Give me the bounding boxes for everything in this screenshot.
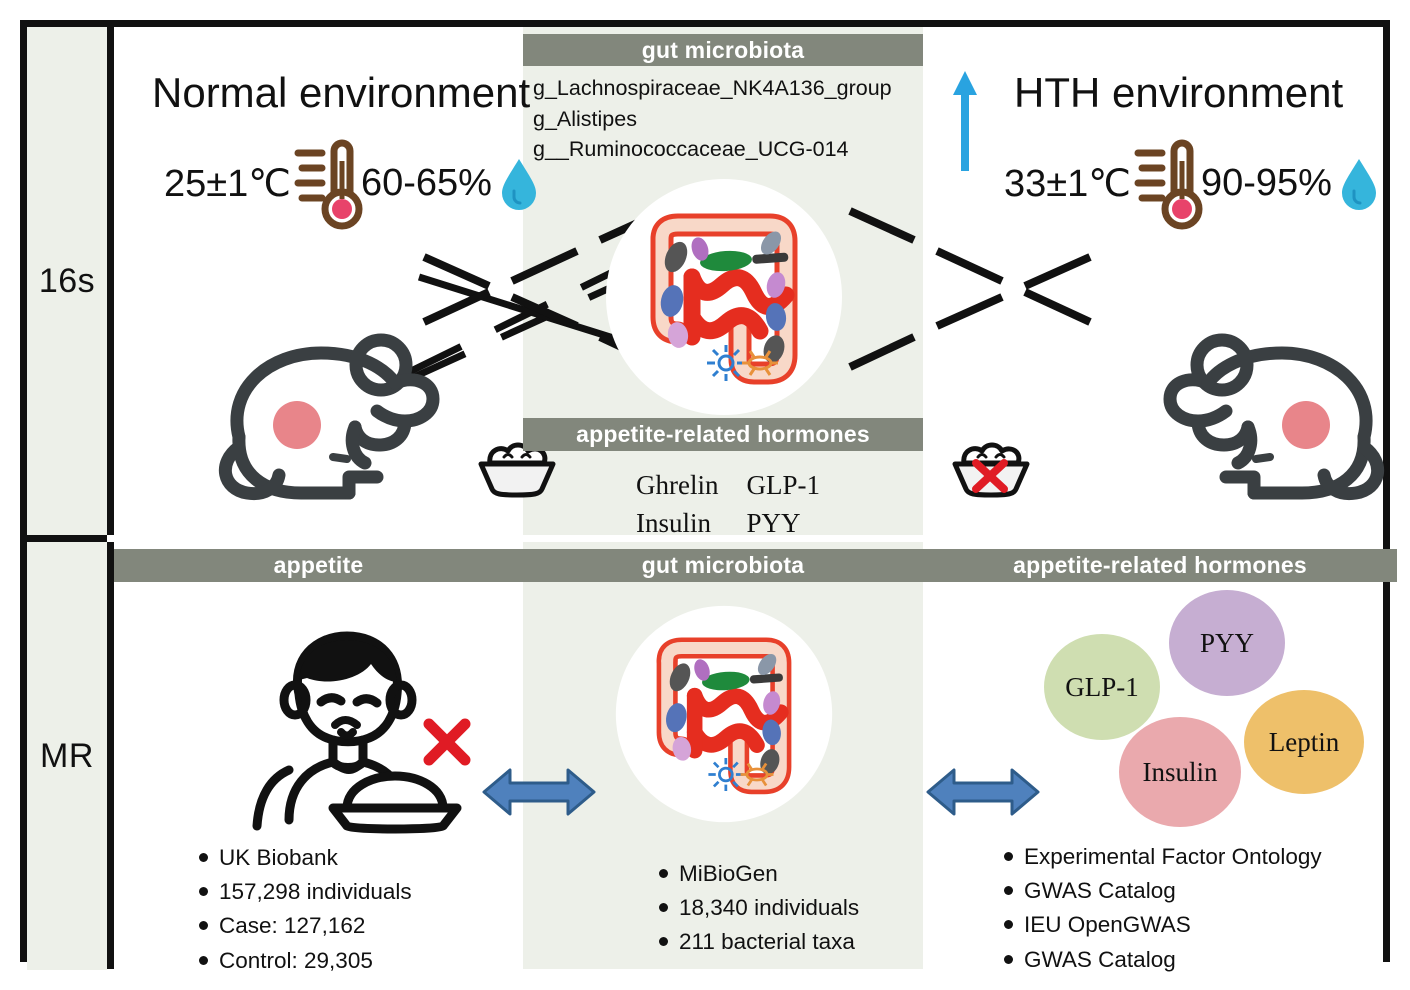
normal-humidity-value: 60-65% — [361, 162, 492, 205]
row-label-mr: MR — [27, 542, 107, 970]
hormone-bubble-pyy: PYY — [1169, 590, 1285, 696]
bullet-dot — [659, 869, 668, 878]
appetite-header-text: appetite — [274, 552, 364, 579]
bullet-dot — [659, 937, 668, 946]
hormone-item: Insulin — [636, 505, 744, 541]
hormones-list: Ghrelin GLP-1 Insulin PYY — [634, 465, 848, 544]
water-droplet-icon — [1338, 155, 1380, 211]
bullet-dot — [199, 887, 208, 896]
food-bowl-crossed-icon — [950, 437, 1032, 499]
mr-hormones-header-text: appetite-related hormones — [1013, 552, 1307, 579]
appetite-header: appetite — [114, 549, 523, 582]
list-item: GWAS Catalog — [1004, 943, 1322, 977]
double-headed-arrow-icon — [926, 764, 1040, 820]
red-cross-icon — [419, 714, 475, 770]
hormone-bubble-label: PYY — [1200, 628, 1254, 659]
figure-frame: 16s gut microbiota g_Lachnospiraceae_NK4… — [20, 20, 1390, 962]
water-droplet-icon — [498, 155, 540, 211]
thermometer-icon — [295, 135, 357, 231]
intestine-icon — [614, 604, 834, 824]
hormone-bubble-leptin: Leptin — [1244, 690, 1364, 794]
thermometer-icon — [1135, 135, 1197, 231]
mr-gut-microbiota-header-text: gut microbiota — [642, 552, 805, 579]
panel-mr: appetite gut microbiota appetite-related… — [107, 542, 1383, 969]
normal-environment-title: Normal environment — [152, 69, 530, 117]
mr-gut-microbiota-header: gut microbiota — [523, 549, 923, 582]
mr-hormones-header: appetite-related hormones — [923, 549, 1397, 582]
list-item: 18,340 individuals — [659, 891, 859, 925]
list-item: MiBioGen — [659, 857, 859, 891]
list-item: Case: 127,162 — [199, 909, 412, 943]
bullet-dot — [1004, 920, 1013, 929]
hormones-header: appetite-related hormones — [523, 418, 923, 451]
microbiota-bullets: MiBioGen 18,340 individuals 211 bacteria… — [659, 857, 859, 960]
hormone-bubble-label: GLP-1 — [1065, 672, 1139, 703]
list-item: IEU OpenGWAS — [1004, 908, 1322, 942]
appetite-bullets: UK Biobank 157,298 individuals Case: 127… — [199, 841, 412, 978]
intestine-icon — [604, 177, 844, 417]
list-item: Control: 29,305 — [199, 944, 412, 978]
double-headed-arrow-icon — [482, 764, 596, 820]
row-label-16s: 16s — [27, 27, 107, 542]
hormone-bubble-label: Leptin — [1269, 727, 1339, 758]
bullet-dot — [1004, 852, 1013, 861]
hormones-bullets: Experimental Factor Ontology GWAS Catalo… — [1004, 840, 1322, 977]
hormones-header-text: appetite-related hormones — [576, 421, 870, 448]
bullet-dot — [199, 853, 208, 862]
panel-16s: gut microbiota g_Lachnospiraceae_NK4A136… — [107, 27, 1383, 535]
hormone-item: PYY — [746, 505, 846, 541]
list-item: 157,298 individuals — [199, 875, 412, 909]
bullet-dot — [1004, 886, 1013, 895]
hormone-item: GLP-1 — [746, 467, 846, 503]
bullet-dot — [199, 956, 208, 965]
hormone-bubble-glp1: GLP-1 — [1044, 634, 1160, 740]
row-label-16s-text: 16s — [39, 262, 95, 301]
bullet-dot — [1004, 955, 1013, 964]
hth-humidity-value: 90-95% — [1201, 162, 1332, 205]
hormone-item: Ghrelin — [636, 467, 744, 503]
hth-environment-conditions: 33±1℃ 90-95% — [1004, 135, 1380, 231]
list-item: Experimental Factor Ontology — [1004, 840, 1322, 874]
bullet-dot — [659, 903, 668, 912]
list-item: UK Biobank — [199, 841, 412, 875]
normal-temperature-value: 25±1℃ — [164, 161, 291, 206]
mouse-icon — [1064, 317, 1394, 517]
list-item: GWAS Catalog — [1004, 874, 1322, 908]
hormone-bubble-insulin: Insulin — [1119, 717, 1241, 827]
bullet-dot — [199, 921, 208, 930]
normal-environment-conditions: 25±1℃ 60-65% — [164, 135, 540, 231]
list-item: 211 bacterial taxa — [659, 925, 859, 959]
hth-temperature-value: 33±1℃ — [1004, 161, 1131, 206]
row-label-mr-text: MR — [40, 737, 94, 776]
hth-environment-title: HTH environment — [1014, 69, 1343, 117]
hormone-bubble-label: Insulin — [1142, 757, 1217, 788]
